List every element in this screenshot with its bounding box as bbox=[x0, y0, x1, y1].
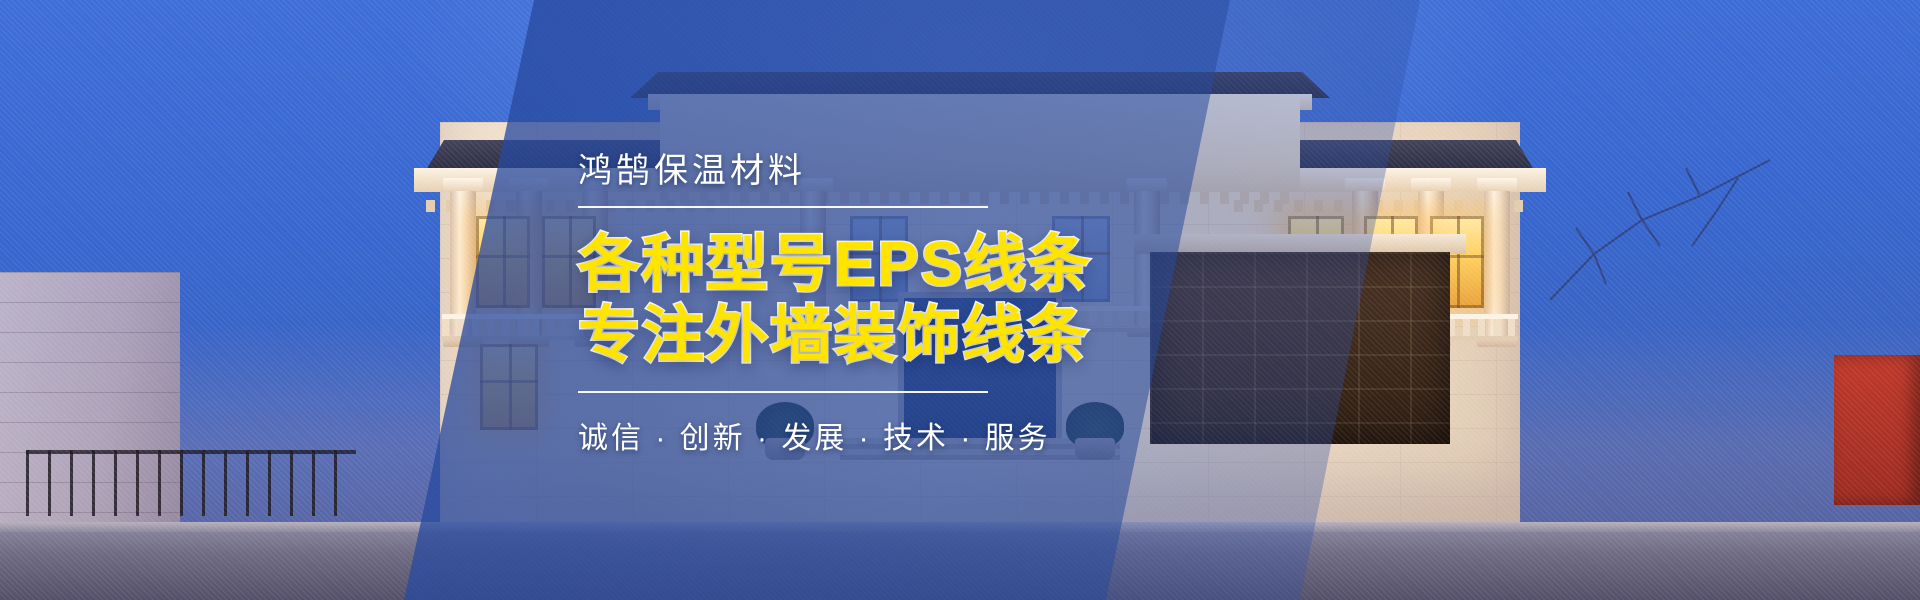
banner-content: 鸿鹄保温材料 各种型号EPS线条 专注外墙装饰线条 诚信 · 创新 · 发展 ·… bbox=[0, 0, 1920, 600]
headline-line-2: 专注外墙装饰线条 bbox=[578, 301, 1920, 372]
headline-line-1: 各种型号EPS线条 bbox=[578, 230, 1920, 301]
divider-top bbox=[578, 206, 988, 208]
divider-bottom bbox=[578, 391, 988, 393]
promo-banner: 鸿鹄保温材料 各种型号EPS线条 专注外墙装饰线条 诚信 · 创新 · 发展 ·… bbox=[0, 0, 1920, 600]
brand-name: 鸿鹄保温材料 bbox=[578, 143, 1920, 192]
tagline: 诚信 · 创新 · 发展 · 技术 · 服务 bbox=[578, 413, 1920, 457]
headline: 各种型号EPS线条 专注外墙装饰线条 bbox=[578, 230, 1920, 371]
